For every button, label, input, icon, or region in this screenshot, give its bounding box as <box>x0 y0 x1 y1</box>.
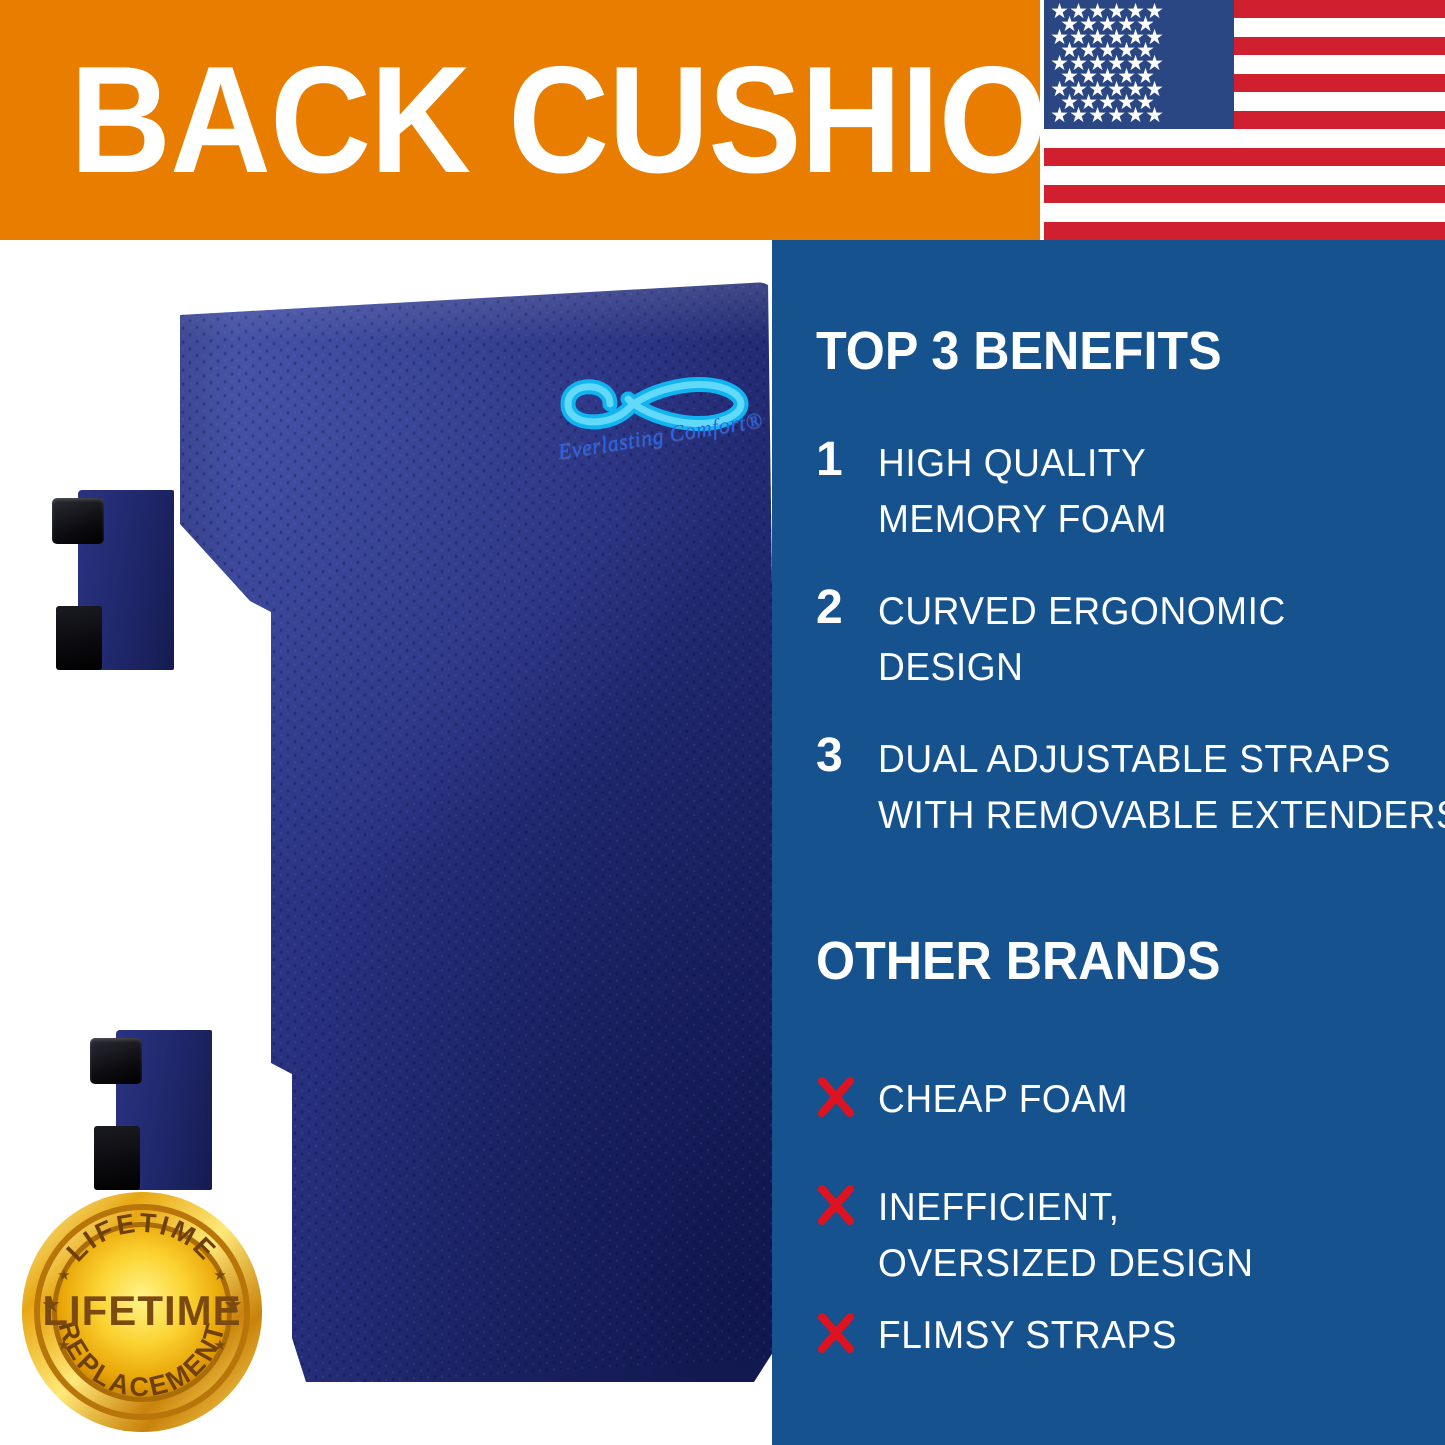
badge-center-text: LIFETIME <box>42 1287 241 1334</box>
svg-text:★: ★ <box>213 1267 226 1284</box>
red-x-icon <box>816 1312 856 1354</box>
flag-canton: ★★★★★★ ★★★★★ ★★★★★★ ★★★★★ ★★★★★★ ★★★★★ ★… <box>1044 0 1234 129</box>
red-x-icon <box>816 1076 856 1118</box>
lifetime-replacement-badge: LIFETIME REPLACEMENT ★ ★ ★ ★ ★ ★ LIFETIM… <box>18 1188 266 1436</box>
benefit-line-1a: HIGH QUALITY <box>878 436 1408 492</box>
benefit-item-2: 2 CURVED ERGONOMIC DESIGN <box>816 584 1436 696</box>
benefit-item-3: 3 DUAL ADJUSTABLE STRAPS WITH REMOVABLE … <box>816 732 1436 844</box>
other-brand-item-2: INEFFICIENT, OVERSIZED DESIGN <box>816 1180 1436 1292</box>
upper-strap-buckle <box>52 490 172 670</box>
brand-logo: Everlasting Comfort® <box>552 357 772 482</box>
benefit-line-1b: MEMORY FOAM <box>878 492 1408 548</box>
benefit-line-3b: WITH REMOVABLE EXTENDERS <box>878 788 1408 844</box>
svg-text:★: ★ <box>213 1337 226 1354</box>
other-brand-item-1: CHEAP FOAM <box>816 1072 1436 1128</box>
lower-strap-buckle <box>90 1030 210 1190</box>
benefits-heading: TOP 3 BENEFITS <box>816 322 1222 380</box>
page-title: BACK CUSHION <box>70 28 953 213</box>
other-brand-text-3: FLIMSY STRAPS <box>878 1308 1408 1364</box>
other-brand-line-2a: INEFFICIENT, <box>878 1180 1408 1236</box>
benefit-line-3a: DUAL ADJUSTABLE STRAPS <box>878 732 1408 788</box>
usa-flag-icon: ★★★★★★ ★★★★★ ★★★★★★ ★★★★★ ★★★★★★ ★★★★★ ★… <box>1044 0 1445 240</box>
svg-text:★: ★ <box>57 1267 70 1284</box>
other-brand-text-2: INEFFICIENT, OVERSIZED DESIGN <box>878 1180 1408 1292</box>
svg-text:★: ★ <box>57 1337 70 1354</box>
benefit-number-3: 3 <box>816 732 858 780</box>
benefit-text-3: DUAL ADJUSTABLE STRAPS WITH REMOVABLE EX… <box>878 732 1408 844</box>
infographic-canvas: BACK CUSHION ★★★★★★ ★★★★★ ★★★★★★ ★★★★★ ★… <box>0 0 1445 1445</box>
info-panel: TOP 3 BENEFITS 1 HIGH QUALITY MEMORY FOA… <box>772 240 1445 1445</box>
other-brands-heading: OTHER BRANDS <box>816 932 1221 990</box>
benefit-number-2: 2 <box>816 584 858 632</box>
red-x-icon <box>816 1184 856 1226</box>
other-brand-line-2b: OVERSIZED DESIGN <box>878 1236 1408 1292</box>
benefit-item-1: 1 HIGH QUALITY MEMORY FOAM <box>816 436 1436 548</box>
other-brand-line-3a: FLIMSY STRAPS <box>878 1308 1408 1364</box>
benefit-text-2: CURVED ERGONOMIC DESIGN <box>878 584 1408 696</box>
benefit-line-2b: DESIGN <box>878 640 1408 696</box>
other-brand-text-1: CHEAP FOAM <box>878 1072 1408 1128</box>
other-brand-line-1a: CHEAP FOAM <box>878 1072 1408 1128</box>
header-bar: BACK CUSHION <box>0 0 1040 240</box>
other-brand-item-3: FLIMSY STRAPS <box>816 1308 1436 1364</box>
benefit-number-1: 1 <box>816 436 858 484</box>
benefit-text-1: HIGH QUALITY MEMORY FOAM <box>878 436 1408 548</box>
benefit-line-2a: CURVED ERGONOMIC <box>878 584 1408 640</box>
